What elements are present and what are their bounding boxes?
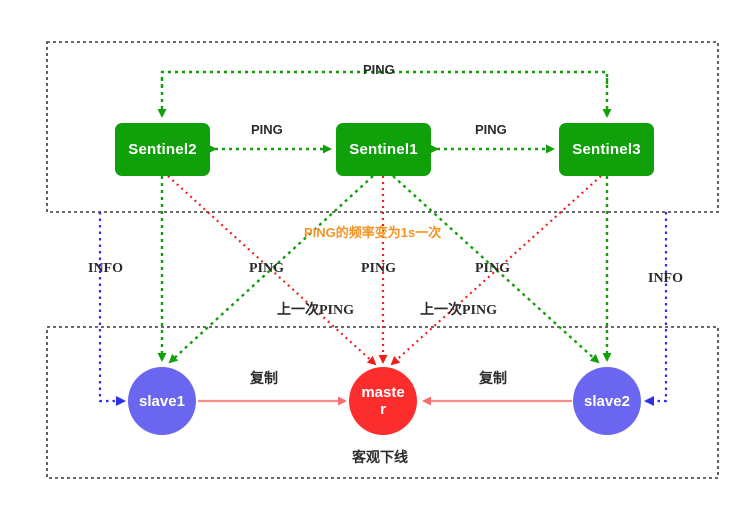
diagram-canvas: Sentinel2 Sentinel1 Sentinel3 slave1 mas… bbox=[0, 0, 752, 511]
node-sentinel2[interactable]: Sentinel2 bbox=[115, 123, 210, 176]
node-slave2[interactable]: slave2 bbox=[573, 367, 641, 435]
label-ping-mid-center: PING bbox=[361, 261, 396, 277]
label-last-ping-right: 上一次PING bbox=[420, 299, 497, 319]
node-master-label: master bbox=[361, 384, 405, 418]
node-slave1[interactable]: slave1 bbox=[128, 367, 196, 435]
label-ping-s1-s3: PING bbox=[475, 122, 507, 137]
node-slave1-label: slave1 bbox=[139, 393, 185, 410]
node-sentinel3-label: Sentinel3 bbox=[572, 141, 641, 158]
node-sentinel3[interactable]: Sentinel3 bbox=[559, 123, 654, 176]
label-replicate-left: 复制 bbox=[250, 368, 278, 388]
node-sentinel1-label: Sentinel1 bbox=[349, 141, 418, 158]
info-right-wire bbox=[646, 212, 666, 401]
node-sentinel1[interactable]: Sentinel1 bbox=[336, 123, 431, 176]
label-info-right: INFO bbox=[648, 271, 683, 287]
label-last-ping-left: 上一次PING bbox=[277, 299, 354, 319]
label-info-left: INFO bbox=[88, 261, 123, 277]
node-master[interactable]: master bbox=[349, 367, 417, 435]
node-sentinel2-label: Sentinel2 bbox=[128, 141, 197, 158]
label-ping-s2-s1: PING bbox=[251, 122, 283, 137]
label-ping-frequency: PING的频率变为1s一次 bbox=[304, 222, 441, 241]
label-objective-offline: 客观下线 bbox=[352, 447, 408, 467]
label-ping-top: PING bbox=[363, 62, 395, 77]
node-slave2-label: slave2 bbox=[584, 393, 630, 410]
info-left-wire bbox=[100, 212, 124, 401]
label-ping-mid-left: PING bbox=[249, 261, 284, 277]
label-replicate-right: 复制 bbox=[479, 368, 507, 388]
label-ping-mid-right: PING bbox=[475, 261, 510, 277]
